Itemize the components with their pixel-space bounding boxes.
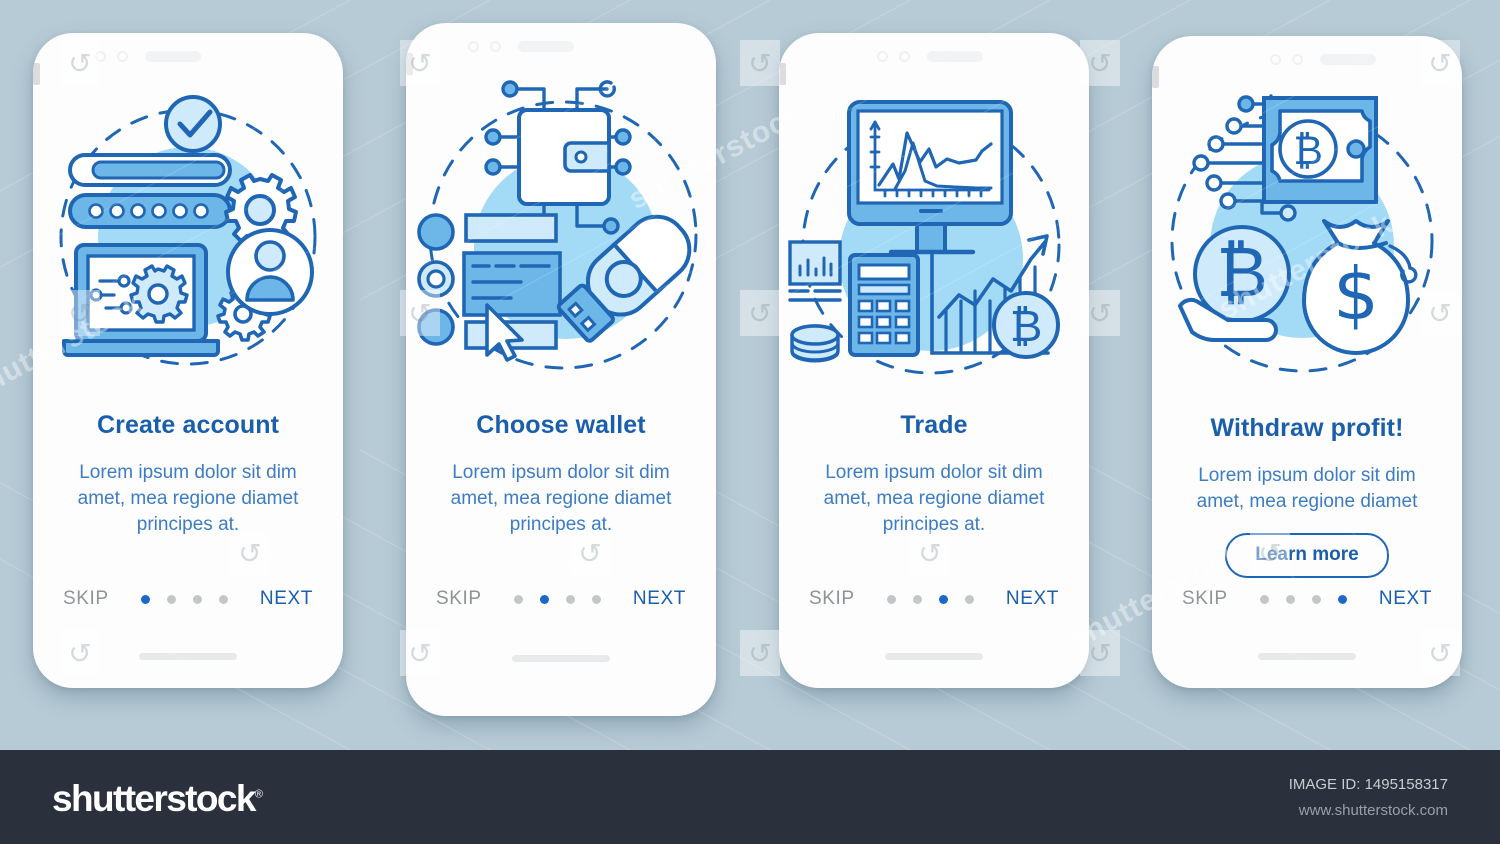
status-dot — [490, 41, 501, 52]
pagination-dot[interactable] — [167, 595, 176, 604]
text-block: Trade Lorem ipsum dolor sit dim amet, me… — [779, 411, 1089, 538]
text-block: Withdraw profit! Lorem ipsum dolor sit d… — [1152, 414, 1462, 578]
phone-screen-create-account: Create account Lorem ipsum dolor sit dim… — [33, 33, 343, 688]
footer-meta: IMAGE ID: 1495158317 www.shutterstock.co… — [1289, 776, 1448, 819]
home-indicator — [1258, 653, 1356, 660]
bar-chart-card — [790, 242, 840, 300]
status-dot — [1270, 54, 1281, 65]
pagination-dots — [887, 595, 974, 604]
next-button[interactable]: NEXT — [1006, 588, 1059, 610]
username-field — [70, 155, 230, 185]
status-pill — [145, 51, 201, 62]
footer-bar: shutterstock® IMAGE ID: 1495158317 www.s… — [0, 750, 1500, 844]
next-button[interactable]: NEXT — [633, 588, 686, 610]
page-description: Lorem ipsum dolor sit dim amet, mea regi… — [1152, 463, 1462, 515]
logo-text: shutterstock — [52, 778, 255, 819]
svg-text:$: $ — [1333, 252, 1379, 336]
pagination-dot[interactable] — [939, 595, 948, 604]
pagination-dot[interactable] — [592, 595, 601, 604]
pagination-dot[interactable] — [887, 595, 896, 604]
pagination-dot[interactable] — [1286, 595, 1295, 604]
nav-row: SKIP NEXT — [779, 588, 1089, 610]
page-description: Lorem ipsum dolor sit dim amet, mea regi… — [779, 460, 1089, 538]
skip-button[interactable]: SKIP — [63, 588, 109, 610]
status-pill — [518, 41, 574, 52]
text-block: Choose wallet Lorem ipsum dolor sit dim … — [406, 411, 716, 538]
pagination-dot[interactable] — [141, 595, 150, 604]
page-title: Choose wallet — [406, 411, 716, 440]
svg-text:₿: ₿ — [1293, 128, 1323, 174]
pagination-dot[interactable] — [1338, 595, 1347, 604]
nav-row: SKIP NEXT — [33, 588, 343, 610]
page-title: Withdraw profit! — [1152, 414, 1462, 443]
create-account-illustration — [33, 67, 343, 397]
text-block: Create account Lorem ipsum dolor sit dim… — [33, 411, 343, 538]
status-pill — [1320, 54, 1376, 65]
skip-button[interactable]: SKIP — [1182, 588, 1228, 610]
status-dot — [1292, 54, 1303, 65]
shutterstock-logo: shutterstock® — [52, 778, 263, 820]
coin-stack-icon — [792, 326, 838, 361]
pagination-dots — [1260, 595, 1347, 604]
home-indicator — [512, 655, 610, 662]
page-title: Trade — [779, 411, 1089, 440]
password-field — [70, 195, 230, 227]
home-indicator — [885, 653, 983, 660]
nav-row: SKIP NEXT — [406, 588, 716, 610]
next-button[interactable]: NEXT — [260, 588, 313, 610]
choose-wallet-illustration — [406, 67, 716, 397]
status-pill — [927, 51, 983, 62]
check-badge — [166, 97, 220, 151]
pagination-dot[interactable] — [1260, 595, 1269, 604]
withdraw-profit-illustration: ₿ ₿ $ — [1152, 66, 1462, 396]
image-id-value: 1495158317 — [1365, 776, 1448, 793]
skip-button[interactable]: SKIP — [809, 588, 855, 610]
learn-more-button[interactable]: Learn more — [1225, 533, 1388, 578]
bitcoin-banknote-icon: ₿ — [1264, 98, 1376, 202]
status-bar — [779, 49, 1089, 65]
status-bar — [406, 39, 716, 55]
pagination-dot[interactable] — [913, 595, 922, 604]
page-description: Lorem ipsum dolor sit dim amet, mea regi… — [406, 460, 716, 538]
page-title: Create account — [33, 411, 343, 440]
nav-row: SKIP NEXT — [1152, 588, 1462, 610]
home-indicator — [139, 653, 237, 660]
laptop-icon — [64, 245, 218, 355]
registered-mark: ® — [255, 789, 263, 801]
phone-screen-withdraw-profit: ₿ ₿ $ Withdraw profit! Lorem ipsum dolor… — [1152, 36, 1462, 688]
pagination-dot[interactable] — [540, 595, 549, 604]
status-dot — [95, 51, 106, 62]
pagination-dot[interactable] — [1312, 595, 1321, 604]
pagination-dot[interactable] — [566, 595, 575, 604]
footer-url: www.shutterstock.com — [1289, 802, 1448, 819]
svg-text:₿: ₿ — [1010, 301, 1043, 352]
avatar-icon — [228, 230, 312, 314]
pagination-dot[interactable] — [965, 595, 974, 604]
next-button[interactable]: NEXT — [1379, 588, 1432, 610]
status-dot — [877, 51, 888, 62]
pagination-dot[interactable] — [193, 595, 202, 604]
image-id-line: IMAGE ID: 1495158317 — [1289, 776, 1448, 793]
phone-screen-choose-wallet: Choose wallet Lorem ipsum dolor sit dim … — [406, 23, 716, 716]
page-description: Lorem ipsum dolor sit dim amet, mea regi… — [33, 460, 343, 538]
pagination-dots — [141, 595, 228, 604]
radio-button-list — [419, 215, 453, 344]
status-dot — [117, 51, 128, 62]
hand-with-bitcoin-icon: ₿ — [1180, 227, 1289, 340]
pagination-dot[interactable] — [514, 595, 523, 604]
phone-screen-trade: ₿ Trade Lorem ipsum dolor sit dim amet, … — [779, 33, 1089, 688]
bitcoin-coin-icon: ₿ — [994, 293, 1058, 357]
status-dot — [899, 51, 910, 62]
svg-text:₿: ₿ — [1216, 231, 1268, 313]
trade-illustration: ₿ — [779, 67, 1089, 397]
pagination-dot[interactable] — [219, 595, 228, 604]
status-bar — [33, 49, 343, 65]
calculator-icon — [850, 255, 918, 355]
phones-stage: Create account Lorem ipsum dolor sit dim… — [0, 0, 1500, 750]
skip-button[interactable]: SKIP — [436, 588, 482, 610]
image-id-label: IMAGE ID: — [1289, 776, 1361, 793]
status-dot — [468, 41, 479, 52]
pagination-dots — [514, 595, 601, 604]
